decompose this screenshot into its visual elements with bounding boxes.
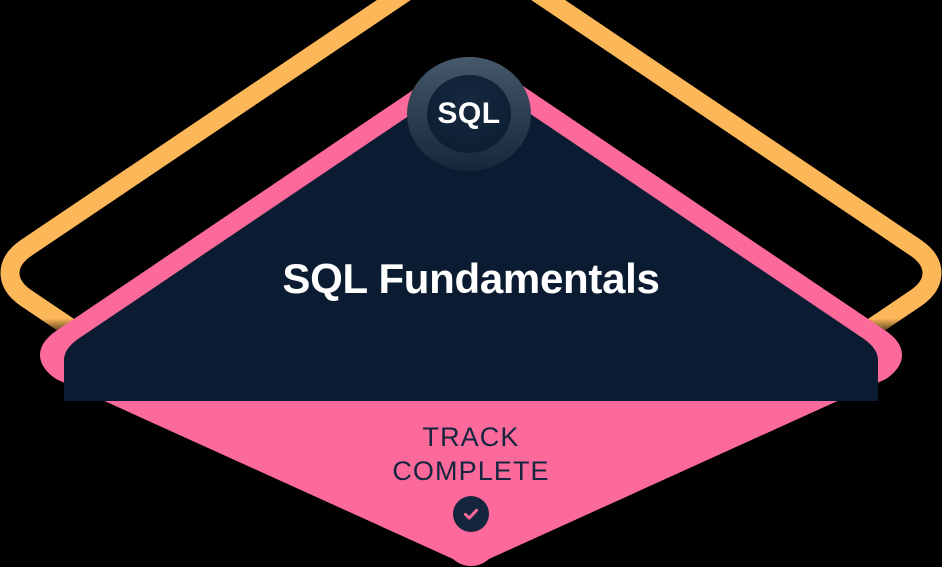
completion-check-badge [453, 496, 489, 532]
track-status-block: TRACK COMPLETE [0, 420, 942, 532]
track-title: SQL Fundamentals [0, 255, 942, 303]
sql-emblem-label: SQL [437, 99, 500, 129]
status-line-track: TRACK [0, 420, 942, 454]
track-completion-badge: SQL SQL Fundamentals TRACK COMPLETE [0, 0, 942, 567]
status-line-complete: COMPLETE [0, 454, 942, 488]
sql-emblem: SQL [407, 57, 531, 171]
check-icon [460, 503, 482, 525]
